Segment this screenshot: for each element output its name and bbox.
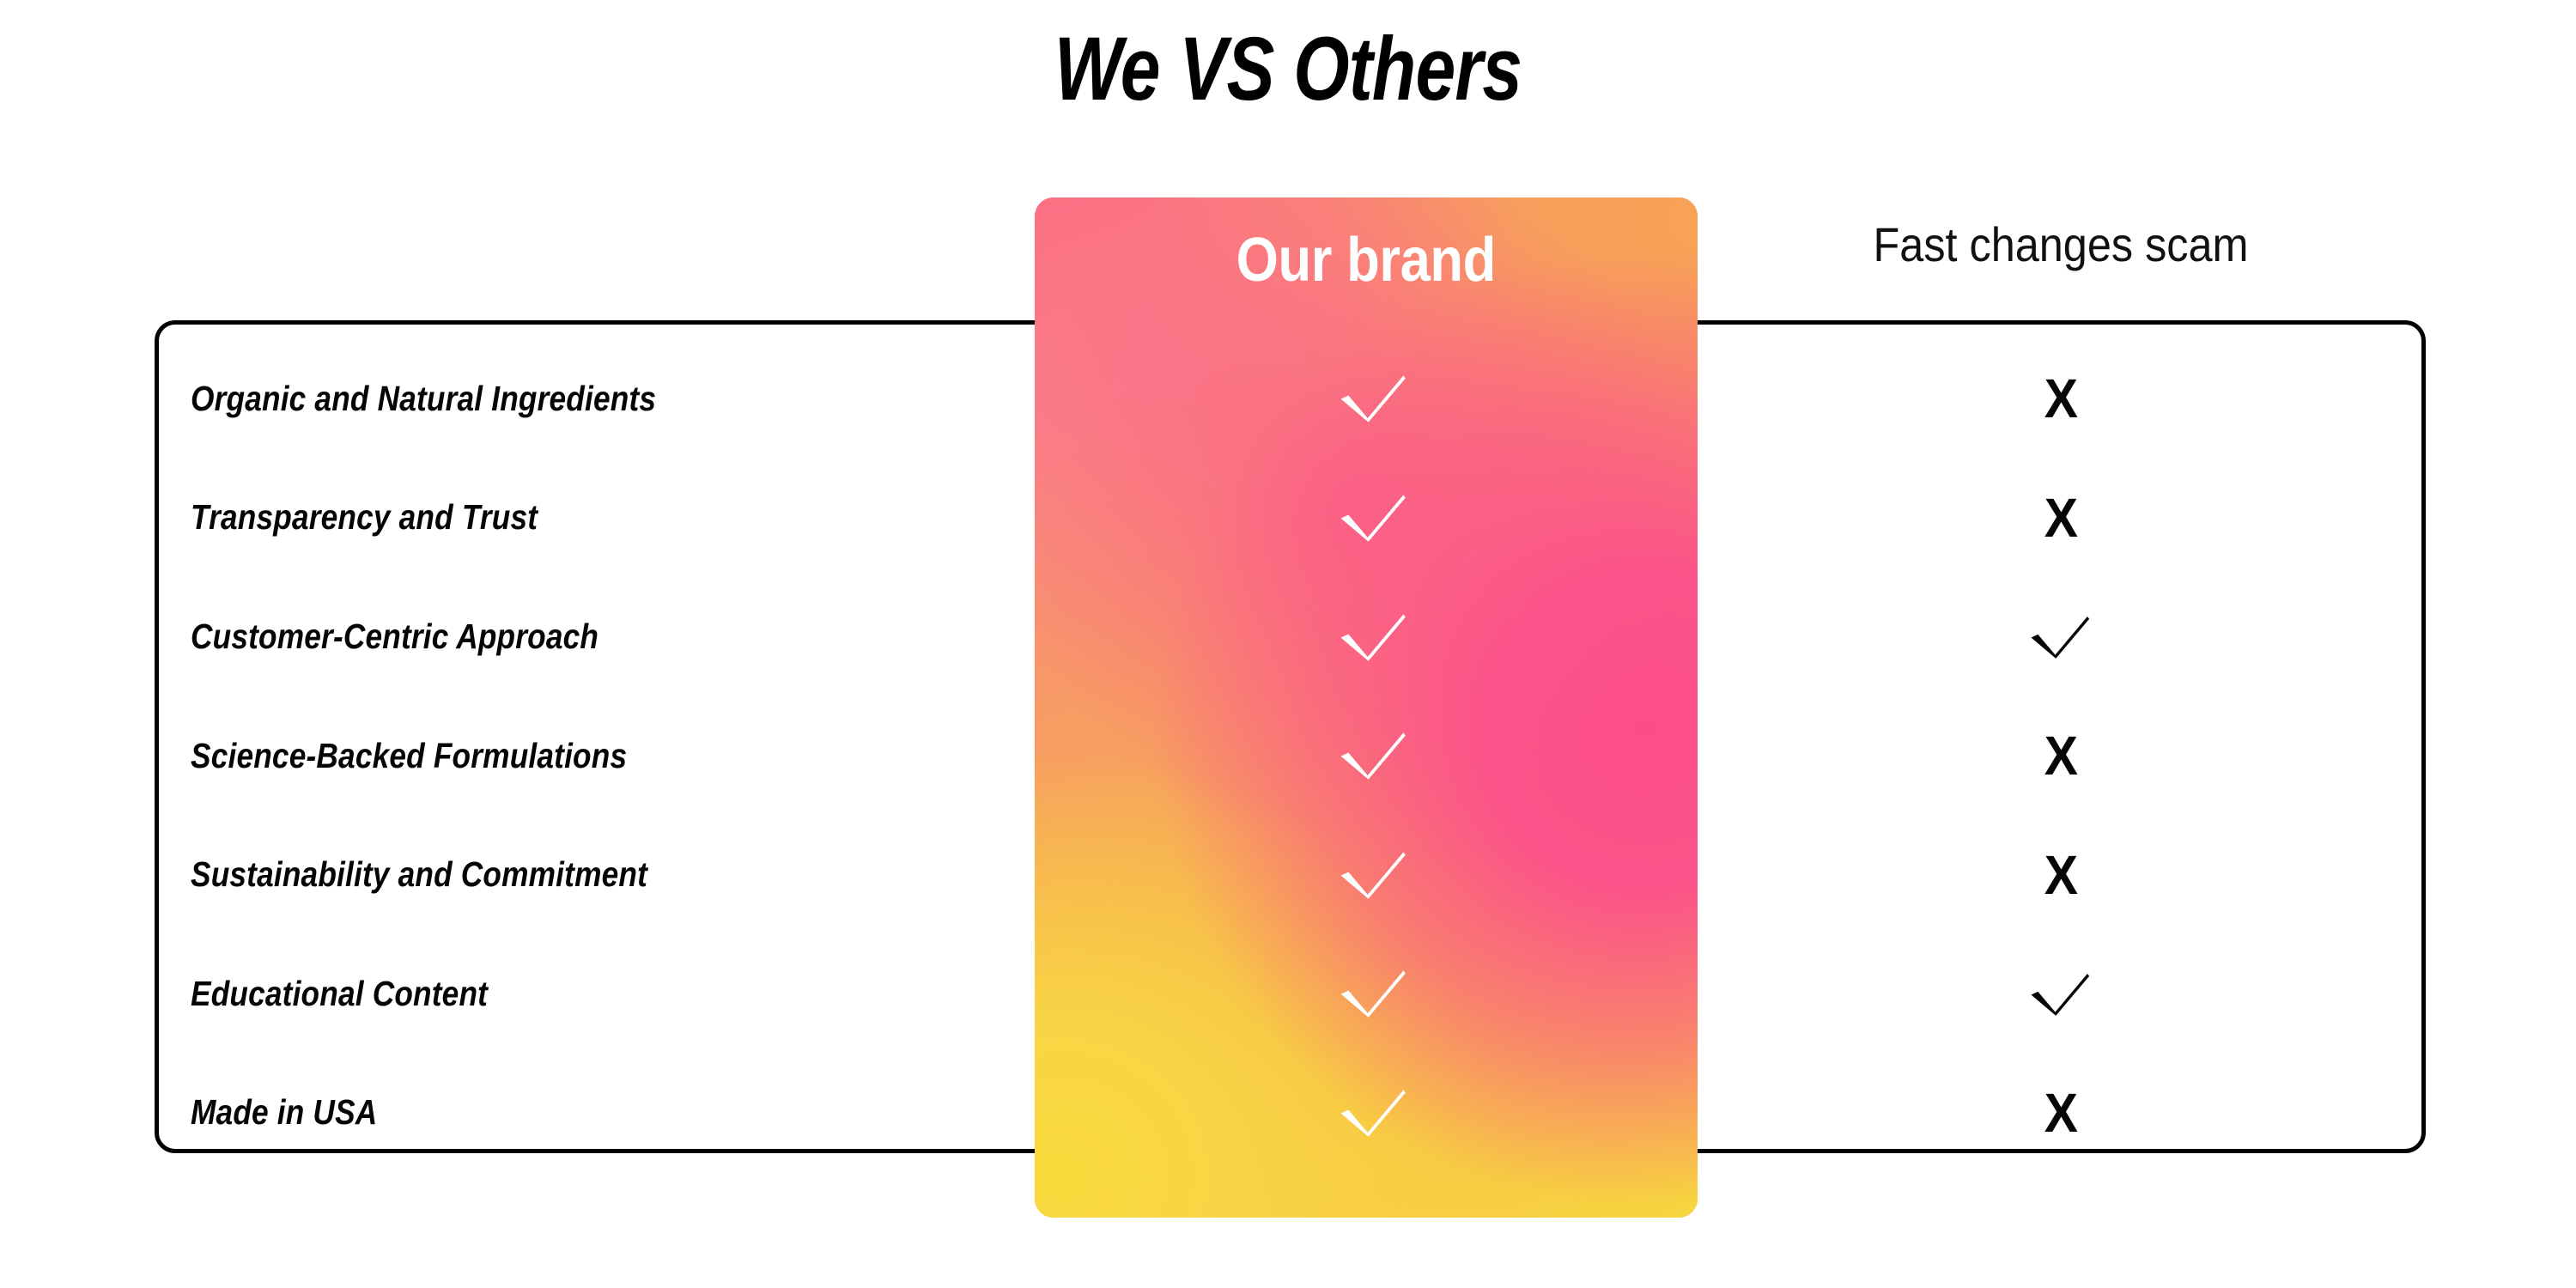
cell-other-cross: X (1984, 815, 2138, 934)
brand-column-card: Our brand (1035, 197, 1698, 1218)
column-header-other: Fast changes scam (1783, 216, 2339, 272)
comparison-infographic: We VS Others Fast changes scam Organic a… (0, 0, 2576, 1288)
row-label: Organic and Natural Ingredients (191, 379, 656, 419)
page-title: We VS Others (258, 24, 2318, 114)
cell-other-cross: X (1984, 1054, 2138, 1173)
cell-other-cross: X (1984, 339, 2138, 459)
x-icon: X (2044, 371, 2077, 426)
cell-other-check (1984, 577, 2138, 696)
cell-other-cross: X (1984, 696, 2138, 816)
x-icon: X (2044, 490, 2077, 545)
row-label: Customer-Centric Approach (191, 617, 598, 657)
x-icon: X (2044, 1085, 2077, 1140)
row-label: Science-Backed Formulations (191, 736, 627, 776)
card-gradient-pink-top (1035, 197, 1698, 1218)
check-icon (2030, 971, 2092, 1016)
x-icon: X (2044, 848, 2077, 902)
x-icon: X (2044, 728, 2077, 783)
row-label: Made in USA (191, 1092, 377, 1133)
cell-other-check (1984, 934, 2138, 1054)
row-label: Sustainability and Commitment (191, 854, 647, 895)
cell-other-cross: X (1984, 459, 2138, 578)
column-header-brand-label: Our brand (1236, 229, 1496, 291)
row-label: Educational Content (191, 974, 488, 1014)
column-header-brand: Our brand (1035, 197, 1698, 322)
row-label: Transparency and Trust (191, 497, 538, 538)
check-icon (2030, 614, 2092, 659)
